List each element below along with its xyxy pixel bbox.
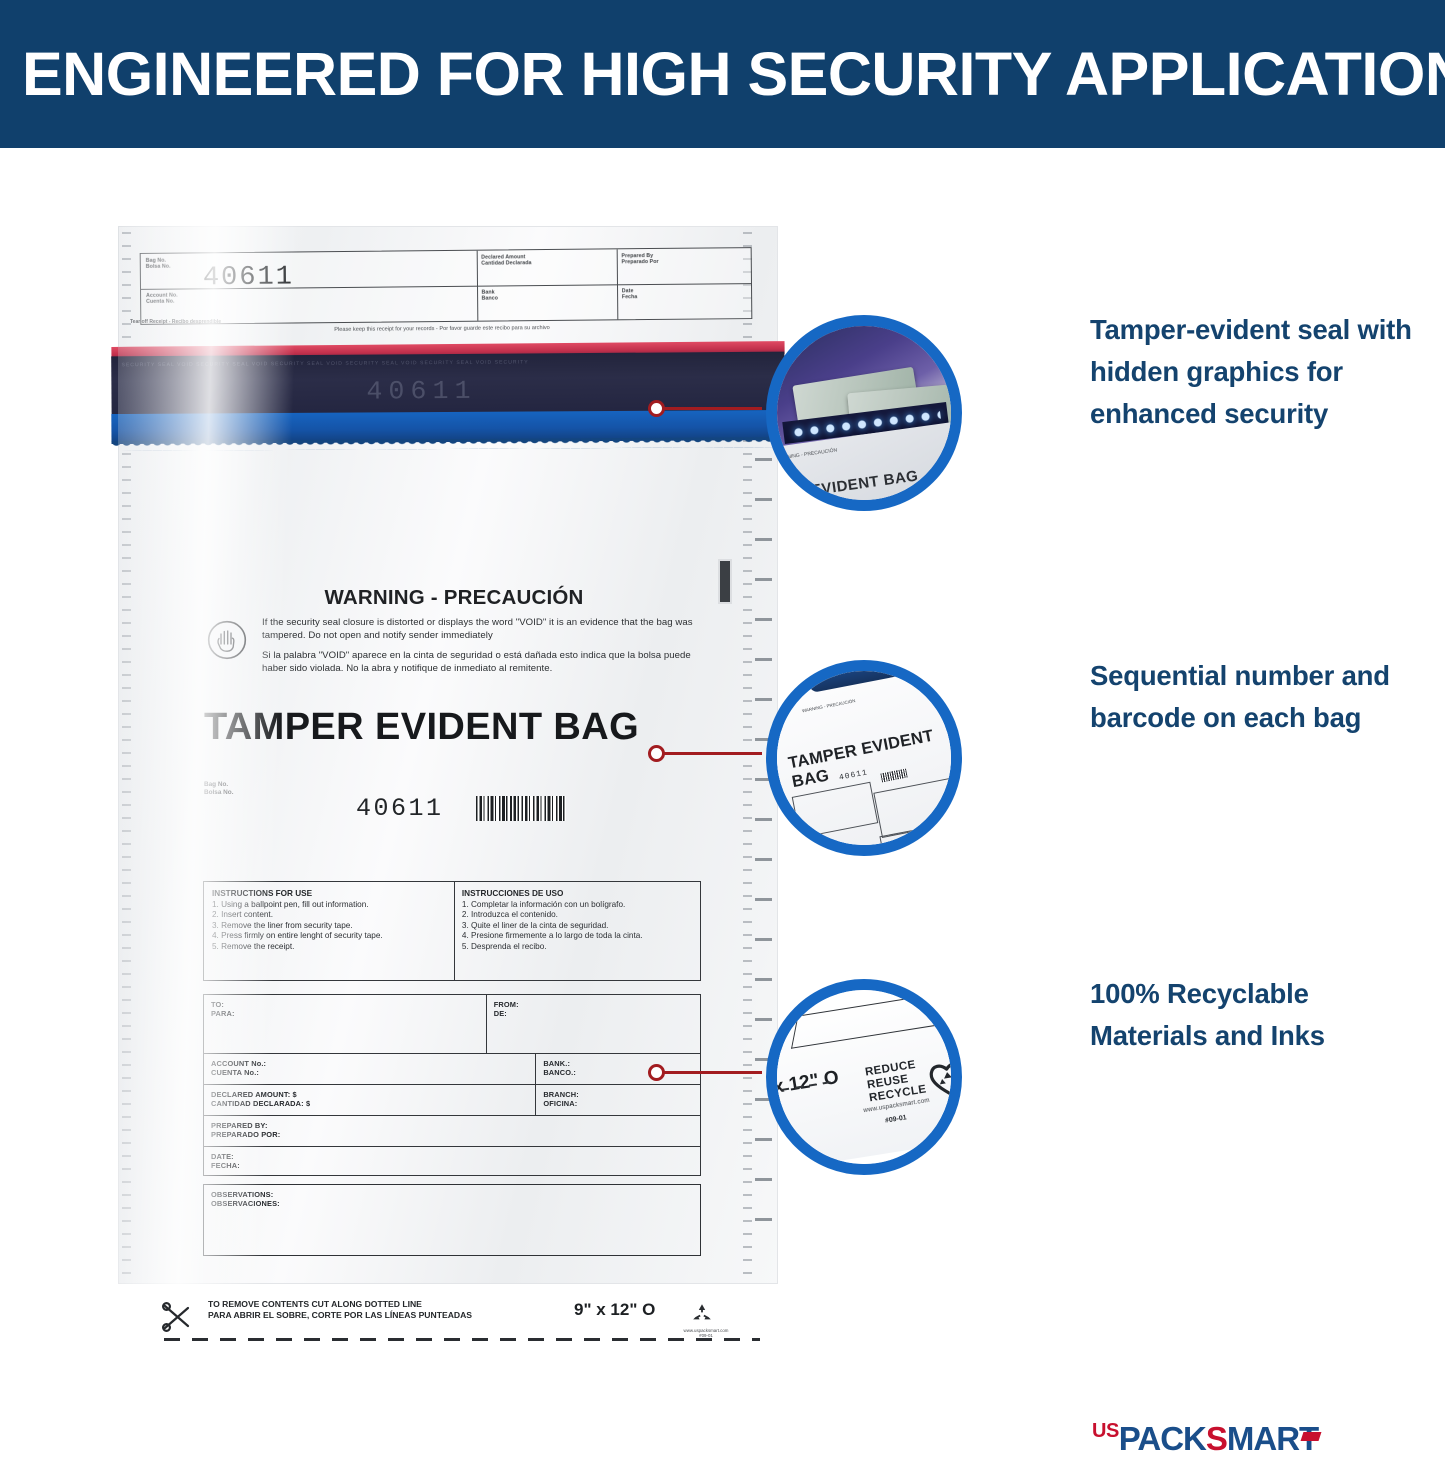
field-declared-amount-label: DECLARED AMOUNT: $CANTIDAD DECLARADA: $ <box>211 1090 535 1108</box>
callout-1-text: Tamper-evident seal with hidden graphics… <box>1090 309 1420 435</box>
instructions-spanish: INSTRUCCIONES DE USO 1. Completar la inf… <box>462 889 695 952</box>
logo-accent-mark <box>1301 1432 1322 1441</box>
stub-bag-number-value: 40611 <box>203 262 294 293</box>
instructions-es-step: 4. Presione firmemente a lo largo de tod… <box>462 931 695 941</box>
cut-instructions-en: TO REMOVE CONTENTS CUT ALONG DOTTED LINE <box>208 1299 472 1310</box>
instructions-en-step: 4. Press firmly on entire lenght of secu… <box>212 931 445 941</box>
recycle-icon <box>690 1302 714 1326</box>
stop-hand-icon <box>207 620 247 660</box>
stub-bank-label: BankBanco <box>482 290 498 303</box>
tear-notch-mark <box>718 559 732 604</box>
field-from-label: FROM:DE: <box>494 1000 700 1018</box>
stub-account-no-label: Account No.Cuenta No. <box>146 293 178 306</box>
uv-blacklight-photo: WARNING - PRECAUCIÓN ER EVIDENT BAG <box>777 326 951 500</box>
stub-prepared-by-label: Prepared ByPreparado Por <box>621 253 658 266</box>
uspacksmart-logo: USPACKSMART <box>1092 1420 1318 1458</box>
instructions-english: INSTRUCTIONS FOR USE 1. Using a ballpoin… <box>212 889 445 952</box>
bag-form-fields: TO:PARA: FROM:DE: ACCOUNT No.:CUENTA No.… <box>203 994 701 1176</box>
stub-declared-amount-label: Declared AmountCantidad Declarada <box>481 254 531 267</box>
field-bank-label: BANK.:BANCO.: <box>543 1059 700 1077</box>
form-row-account-bank: ACCOUNT No.:CUENTA No.: BANK.:BANCO.: <box>204 1054 700 1085</box>
callout-2-leader-line <box>652 752 762 755</box>
cut-instructions: TO REMOVE CONTENTS CUT ALONG DOTTED LINE… <box>208 1299 472 1321</box>
warning-title: WARNING - PRECAUCIÓN <box>204 586 704 610</box>
warning-section: WARNING - PRECAUCIÓN If the security sea… <box>204 586 704 675</box>
field-to-label: TO:PARA: <box>211 1000 486 1018</box>
stub-bag-no-label: Bag No.Bolsa No. <box>146 258 171 271</box>
ruler-ticks <box>754 458 772 1258</box>
bag-size-label: 9" x 12" O <box>574 1300 655 1320</box>
callout-2-leader-dot <box>648 745 665 762</box>
instructions-en-step: 5. Remove the receipt. <box>212 942 445 952</box>
header-banner: ENGINEERED FOR HIGH SECURITY APPLICATION… <box>0 0 1445 148</box>
logo-us: US <box>1092 1420 1119 1442</box>
callout-1-leader-line <box>652 407 762 410</box>
security-seal-strip: SECURITY SEAL VOID SECURITY SEAL VOID SE… <box>118 344 778 452</box>
field-prepared-by-label: PREPARED BY:PREPARADO POR: <box>211 1121 700 1139</box>
field-date-label: DATE:FECHA: <box>211 1152 700 1170</box>
bag-number-label: Bag No.Bolsa No. <box>204 781 233 797</box>
cut-instructions-es: PARA ABRIR EL SOBRE, CORTE POR LAS LÍNEA… <box>208 1310 472 1321</box>
callout-3-image-bubble: x 12" O REDUCEREUSERECYCLE www.uspacksma… <box>766 979 962 1175</box>
callout-3-leader-line <box>652 1071 762 1074</box>
instructions-en-step: 3. Remove the liner from security tape. <box>212 921 445 931</box>
barcode <box>476 796 566 821</box>
form-row-prepared-by: PREPARED BY:PREPARADO POR: <box>204 1116 700 1147</box>
instructions-es-heading: INSTRUCCIONES DE USO <box>462 889 695 898</box>
instructions-es-step: 1. Completar la información con un bolíg… <box>462 900 695 910</box>
scissors-icon <box>160 1300 194 1334</box>
logo-s: S <box>1206 1420 1227 1457</box>
logo-pack: PACK <box>1119 1420 1206 1457</box>
observations-box: OBSERVATIONS:OBSERVACIONES: <box>203 1184 701 1256</box>
callout-2-text: Sequential number and barcode on each ba… <box>1090 655 1420 739</box>
instructions-en-heading: INSTRUCTIONS FOR USE <box>212 889 445 898</box>
callout-1-image-bubble: WARNING - PRECAUCIÓN ER EVIDENT BAG <box>766 315 962 511</box>
form-row-amount-branch: DECLARED AMOUNT: $CANTIDAD DECLARADA: $ … <box>204 1085 700 1116</box>
warning-text-english: If the security seal closure is distorte… <box>262 617 704 642</box>
dotted-cut-line <box>164 1338 760 1341</box>
callout-3-leader-dot <box>648 1064 665 1081</box>
callout-2-image-bubble: WARNING - PRECAUCIÓN TAMPER EVIDENT BAG … <box>766 660 962 856</box>
heart-recycle-icon <box>924 1055 962 1101</box>
field-branch-label: BRANCH:OFICINA: <box>543 1090 700 1108</box>
instructions-en-step: 2. Insert content. <box>212 910 445 920</box>
callout-1-leader-dot <box>648 400 665 417</box>
stub-date-label: DateFecha <box>622 288 638 301</box>
bag-headline: TAMPER EVIDENT BAG <box>204 706 639 749</box>
form-row-date: DATE:FECHA: <box>204 1147 700 1175</box>
seal-microtext: SECURITY SEAL VOID SECURITY SEAL VOID SE… <box>121 357 784 368</box>
uv-photo-bag-text: ER EVIDENT BAG <box>784 467 920 503</box>
instructions-en-step: 1. Using a ballpoint pen, fill out infor… <box>212 900 445 910</box>
stub-tear-note: Tear off Receipt - Recibo desprendible <box>130 319 221 325</box>
stub-footer-note: Please keep this receipt for your record… <box>132 323 752 334</box>
field-account-no-label: ACCOUNT No.:CUENTA No.: <box>211 1059 535 1077</box>
instructions-es-step: 2. Introduzca el contenido. <box>462 910 695 920</box>
instructions-es-step: 5. Desprenda el recibo. <box>462 942 695 952</box>
instructions-block: INSTRUCTIONS FOR USE 1. Using a ballpoin… <box>203 881 701 981</box>
field-observations-label: OBSERVATIONS:OBSERVACIONES: <box>204 1185 700 1208</box>
recycle-closeup-photo: x 12" O REDUCEREUSERECYCLE www.uspacksma… <box>777 990 951 1164</box>
seal-printed-number: 40611 <box>366 376 476 407</box>
bag-number-value: 40611 <box>356 794 444 823</box>
callout-3-text: 100% Recyclable Materials and Inks <box>1090 973 1420 1057</box>
instructions-es-step: 3. Quite el liner de la cinta de segurid… <box>462 921 695 931</box>
form-row-to-from: TO:PARA: FROM:DE: <box>204 995 700 1054</box>
content-stage: Bag No.Bolsa No. Declared AmountCantidad… <box>0 148 1445 1325</box>
angled-bag-photo: WARNING - PRECAUCIÓN TAMPER EVIDENT BAG … <box>777 671 951 845</box>
warning-text-spanish: Si la palabra "VOID" aparece en la cinta… <box>262 650 704 675</box>
receipt-stub: Bag No.Bolsa No. Declared AmountCantidad… <box>140 247 753 325</box>
tamper-evident-bag-image: Bag No.Bolsa No. Declared AmountCantidad… <box>118 226 778 1284</box>
page-title: ENGINEERED FOR HIGH SECURITY APPLICATION… <box>0 39 1445 109</box>
